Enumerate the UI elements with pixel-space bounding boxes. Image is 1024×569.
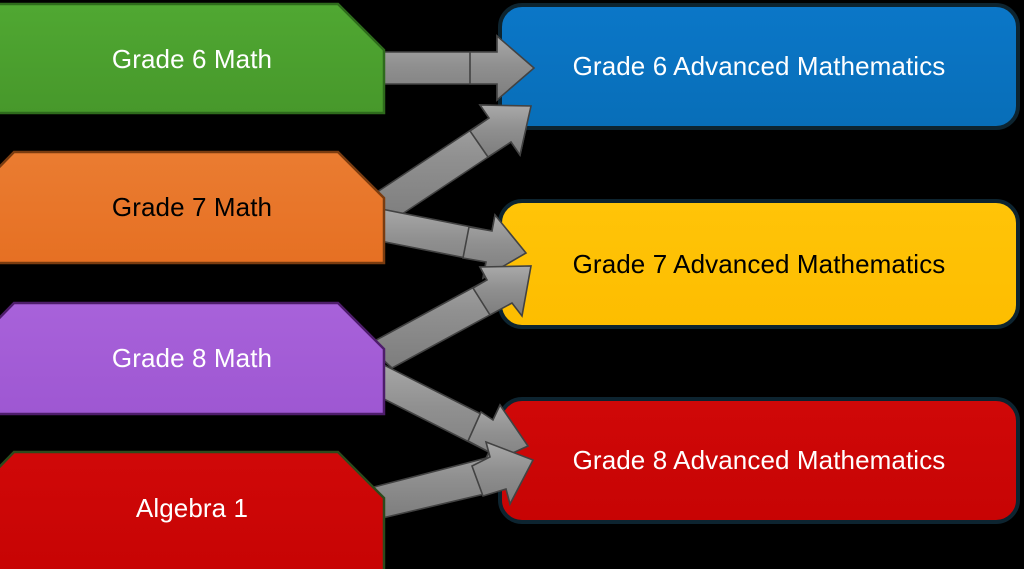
destination-shape-grade-8-advanced-mathematics[interactable] — [500, 399, 1018, 522]
destination-node-grade-8-advanced-mathematics[interactable] — [500, 399, 1018, 522]
source-shape-grade-6-math[interactable] — [0, 4, 384, 113]
diagram-svg — [0, 0, 1024, 569]
source-shape-grade-8-math[interactable] — [0, 303, 384, 414]
destination-shape-grade-6-advanced-mathematics[interactable] — [500, 5, 1018, 128]
source-node-grade-7-math[interactable] — [0, 152, 384, 263]
source-node-grade-8-math[interactable] — [0, 303, 384, 414]
source-shape-algebra-1[interactable] — [0, 452, 384, 569]
destination-shape-grade-7-advanced-mathematics[interactable] — [500, 201, 1018, 327]
diagram-canvas: Grade 6 Math Grade 7 Math Grade 8 Math A… — [0, 0, 1024, 569]
destination-node-grade-6-advanced-mathematics[interactable] — [500, 5, 1018, 128]
source-node-grade-6-math[interactable] — [0, 4, 384, 113]
source-shape-grade-7-math[interactable] — [0, 152, 384, 263]
destination-node-grade-7-advanced-mathematics[interactable] — [500, 201, 1018, 327]
source-node-algebra-1[interactable] — [0, 452, 384, 569]
